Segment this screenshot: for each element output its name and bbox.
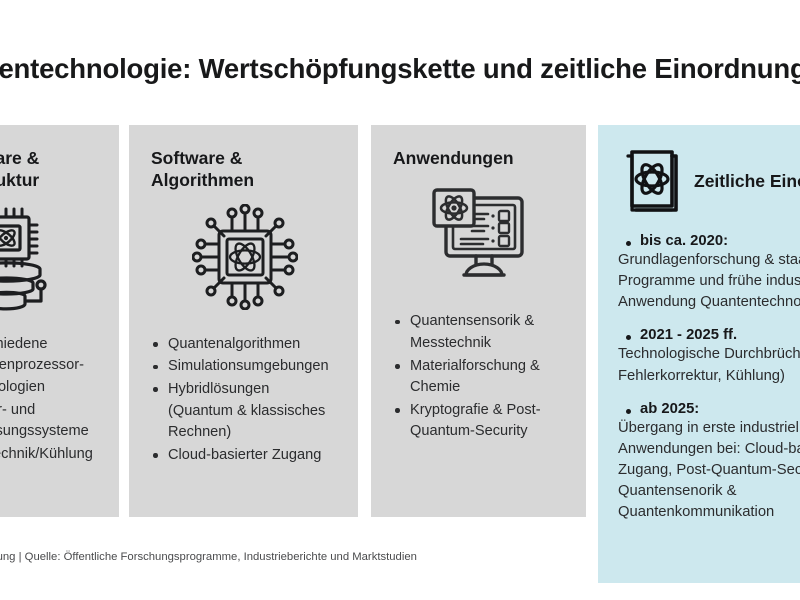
monitor-atom-dashboard-icon	[393, 175, 566, 293]
book-stack-atom-icon	[618, 146, 680, 217]
list-item: Materialforschung & Chemie	[393, 356, 566, 399]
column-title: Hardware & Infrastuktur	[0, 147, 99, 192]
list-item: Steuer- und Auslesungssysteme	[0, 400, 99, 443]
source-footnote: Eigene Darstellung | Quelle: Öffentliche…	[0, 551, 417, 563]
page-title: Quantentechnologie: Wertschöpfungskette …	[0, 52, 800, 85]
timeline-panel-header: Zeitliche Einordnung	[618, 143, 800, 219]
column-bullet-list: Quantensensorik & Messtechnik Materialfo…	[393, 311, 566, 443]
column-bullet-list: Quantenalgorithmen Simulationsumgebungen…	[151, 334, 338, 467]
column-title: Software & Algorithmen	[151, 147, 338, 192]
timeline-entry-text: Technologische Durchbrüche (Qubits, Fehl…	[618, 344, 800, 386]
list-item: Cloud-basierter Zugang	[151, 445, 338, 467]
timeline-entry-label: bis ca. 2020:	[618, 233, 800, 249]
value-chain-column-applications: Anwendungen	[371, 125, 586, 517]
list-item: Quantenalgorithmen	[151, 334, 338, 356]
timeline-entry-text: Übergang in erste industrielle Anwendung…	[618, 418, 800, 524]
timeline-entry-label: 2021 - 2025 ff.	[618, 327, 800, 343]
timeline-entry: bis ca. 2020: Grundlagenforschung & staa…	[618, 233, 800, 313]
list-item: Hybridlösungen (Quantum & klassisches Re…	[151, 379, 338, 444]
column-title: Anwendungen	[393, 147, 566, 169]
timeline-entry: 2021 - 2025 ff. Technologische Durchbrüc…	[618, 327, 800, 386]
quantum-cpu-atom-icon	[151, 198, 338, 316]
list-item: Kryotechnik/Kühlung	[0, 444, 99, 466]
infographic-slide: Quantentechnologie: Wertschöpfungskette …	[0, 0, 800, 600]
quantum-chip-cryostat-icon	[0, 198, 99, 316]
value-chain-column-software: Software & Algorithmen	[129, 125, 358, 517]
timeline-entry-label: ab 2025:	[618, 401, 800, 417]
timeline-entry: ab 2025: Übergang in erste industrielle …	[618, 401, 800, 524]
value-chain-column-hardware: Hardware & Infrastuktur	[0, 125, 119, 517]
timeline-panel-title: Zeitliche Einordnung	[694, 171, 800, 192]
timeline-panel: Zeitliche Einordnung bis ca. 2020: Grund…	[598, 125, 800, 583]
list-item: Kryptografie & Post-Quantum-Security	[393, 400, 566, 443]
list-item: Quantensensorik & Messtechnik	[393, 311, 566, 354]
column-bullet-list: Verschiedene Quantenprozessor-Technologi…	[0, 334, 99, 466]
timeline-entry-text: Grundlagenforschung & staatliche Program…	[618, 250, 800, 313]
list-item: Simulationsumgebungen	[151, 356, 338, 378]
list-item: Verschiedene Quantenprozessor-Technologi…	[0, 334, 99, 399]
slide-canvas: Quantentechnologie: Wertschöpfungskette …	[0, 0, 800, 600]
